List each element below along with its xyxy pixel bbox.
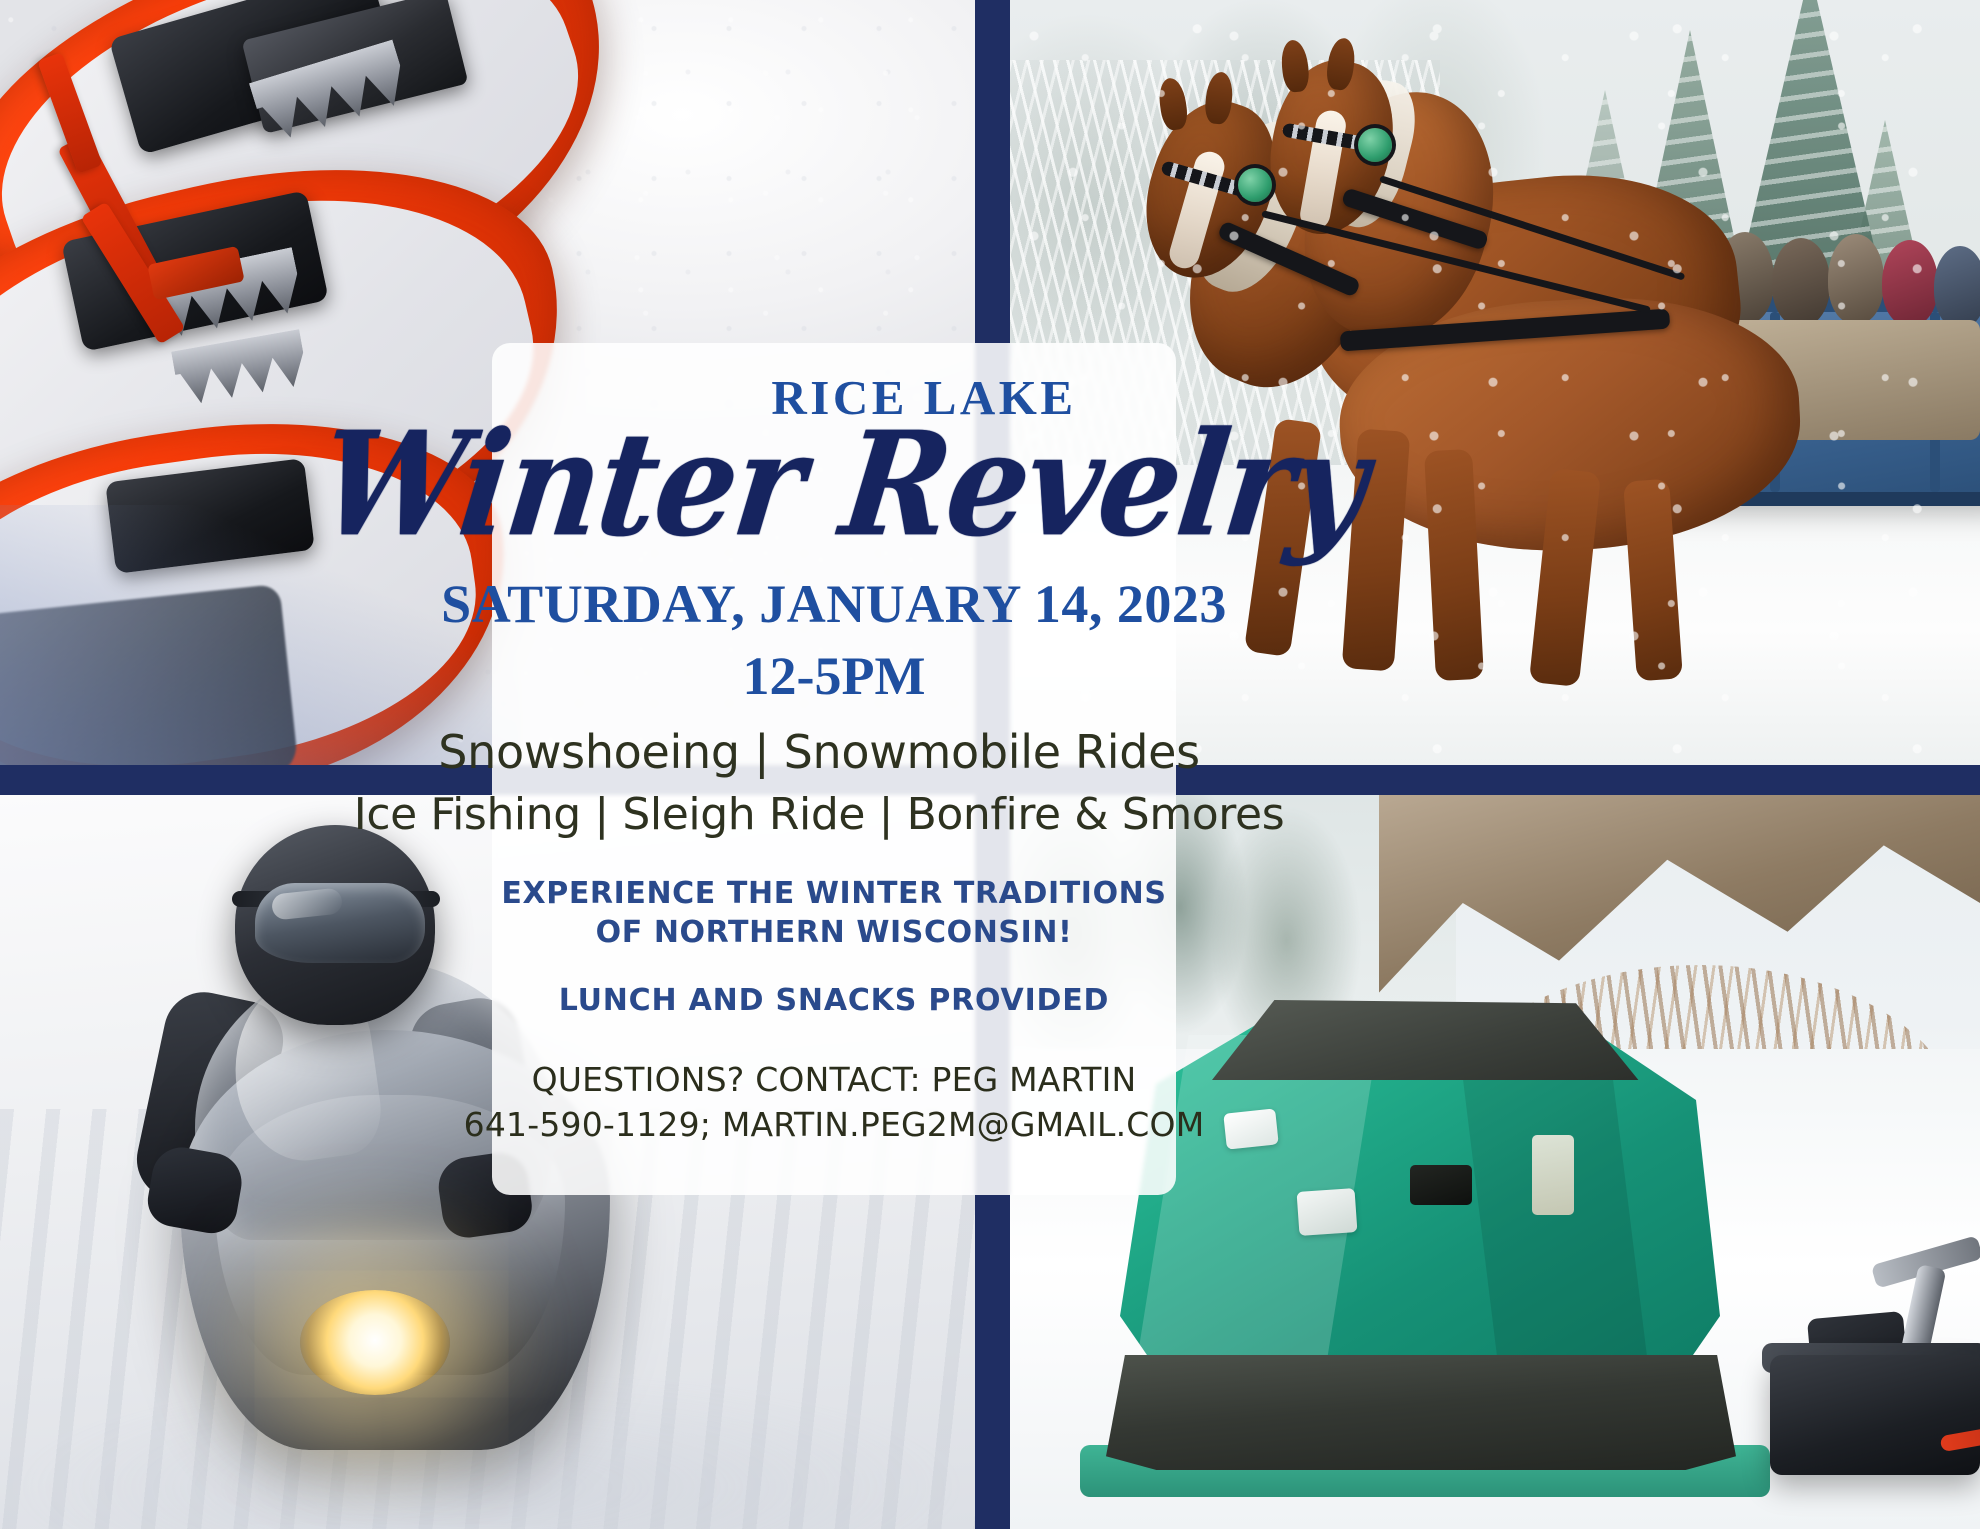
- shelter-vent: [1410, 1165, 1472, 1205]
- event-date: SATURDAY, JANUARY 14, 2023: [441, 573, 1227, 635]
- contact-name-line: QUESTIONS? CONTACT: PEG MARTIN: [464, 1058, 1205, 1103]
- contact-phone-email-line: 641-590-1129; MARTIN.PEG2M@GMAIL.COM: [464, 1103, 1205, 1148]
- shelter-label: [1532, 1135, 1574, 1215]
- event-info-content: RICE LAKE Winter Revelry SATURDAY, JANUA…: [492, 343, 1176, 1147]
- tagline: EXPERIENCE THE WINTER TRADITIONS OF NORT…: [501, 874, 1166, 954]
- snowmobile-headlight: [300, 1290, 450, 1395]
- activities-line-1: Snowshoeing | Snowmobile Rides: [438, 725, 1200, 779]
- event-time: 12-5PM: [743, 645, 926, 707]
- gear-box: [1770, 1355, 1980, 1475]
- contact-block: QUESTIONS? CONTACT: PEG MARTIN 641-590-1…: [464, 1058, 1205, 1147]
- activities-block: Snowshoeing | Snowmobile Rides Ice Fishi…: [447, 725, 1191, 840]
- tagline-line-2: OF NORTHERN WISCONSIN!: [501, 913, 1166, 953]
- shelter-window: [1297, 1188, 1358, 1236]
- meals-note: LUNCH AND SNACKS PROVIDED: [559, 983, 1109, 1018]
- event-title-script: Winter Revelry: [313, 412, 1373, 558]
- activities-line-2: Ice Fishing | Sleigh Ride | Bonfire & Sm…: [354, 789, 1284, 840]
- event-info-card: RICE LAKE Winter Revelry SATURDAY, JANUA…: [492, 343, 1176, 1195]
- winter-revelry-flyer: RICE LAKE Winter Revelry SATURDAY, JANUA…: [0, 0, 1980, 1529]
- shelter-window: [1223, 1108, 1278, 1149]
- tagline-line-1: EXPERIENCE THE WINTER TRADITIONS: [501, 874, 1166, 914]
- shelter-skirt: [1106, 1355, 1736, 1470]
